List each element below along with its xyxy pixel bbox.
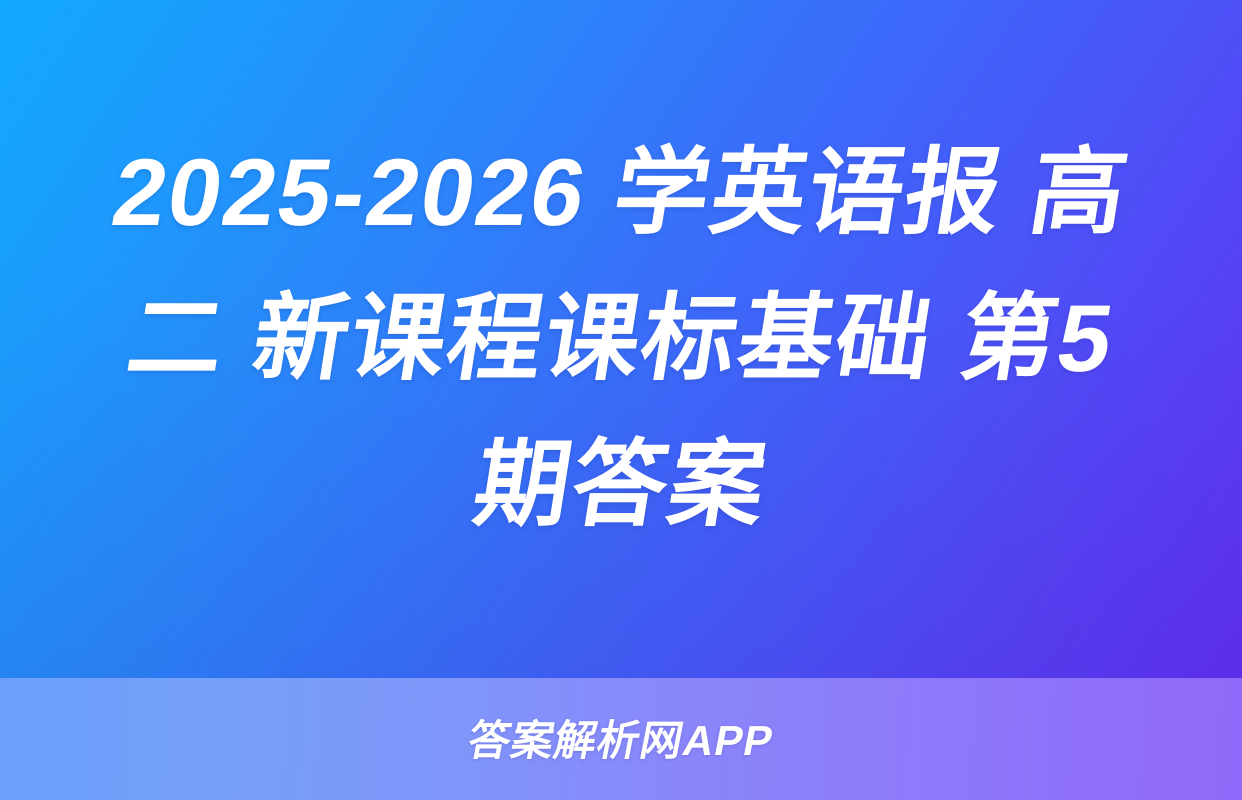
title-line-2: 二 新课程课标基础 第5	[44, 266, 1197, 412]
title-line-3: 期答案	[44, 412, 1197, 558]
answer-cover-card: 2025-2026 学英语报 高 二 新课程课标基础 第5 期答案 答案解析网A…	[0, 0, 1242, 800]
app-brand-label: 答案解析网APP	[464, 720, 777, 762]
title-block: 2025-2026 学英语报 高 二 新课程课标基础 第5 期答案	[0, 0, 1242, 678]
title-line-1: 2025-2026 学英语报 高	[44, 120, 1197, 266]
footer-brand-band: 答案解析网APP	[0, 678, 1242, 800]
